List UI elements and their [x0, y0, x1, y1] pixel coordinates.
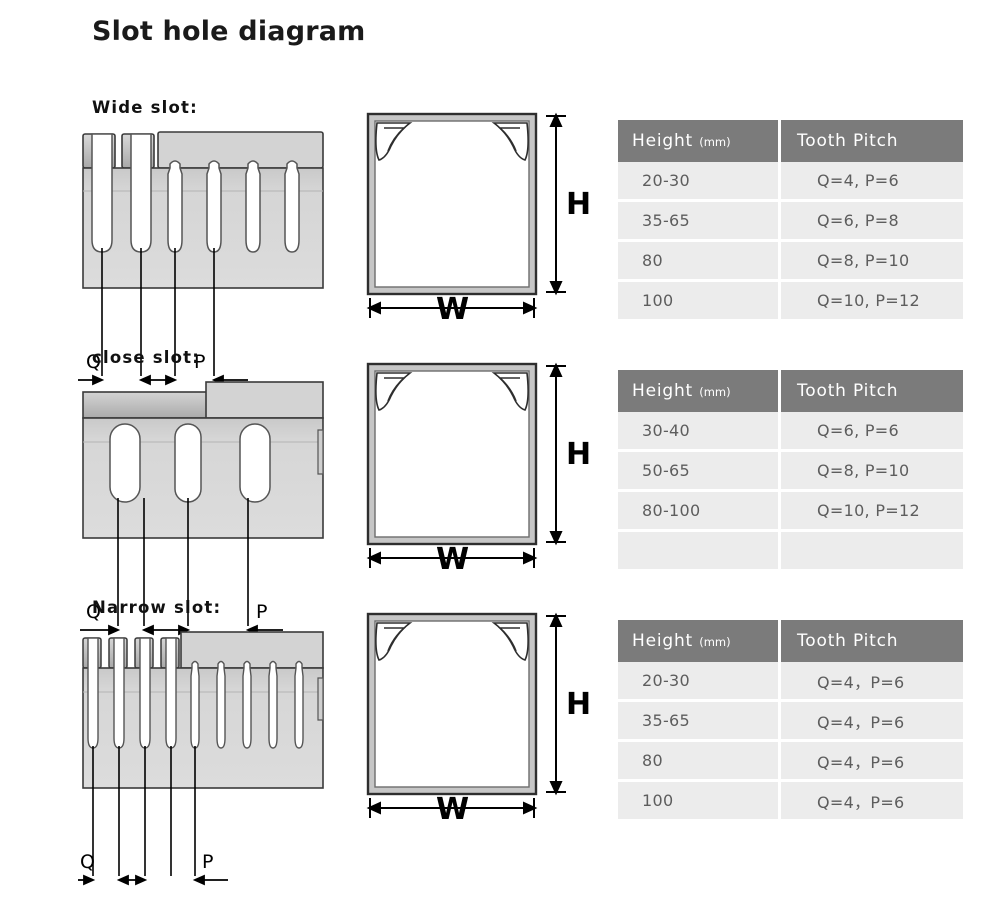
wide-slot-cross-section: H W [360, 106, 590, 331]
dimension-label-p: P [256, 601, 267, 623]
column-header-unit: (mm) [699, 135, 730, 149]
dimension-label-h: H [566, 437, 590, 472]
height-dimension [546, 615, 566, 793]
column-header-height: Height (mm) [618, 620, 780, 662]
height-dimension [546, 115, 566, 293]
column-header-pitch: Tooth Pitch [780, 120, 964, 162]
spec-table-close: Height (mm) Tooth Pitch 30-40 Q=6, P=6 5… [618, 370, 963, 569]
table-header-row: Height (mm) Tooth Pitch [618, 370, 963, 412]
narrow-slot-cross-section: H W [360, 606, 590, 831]
column-header-unit: (mm) [699, 385, 730, 399]
table-row: 35-65 Q=6, P=8 [618, 201, 963, 241]
duct-inner-wall [375, 621, 529, 787]
table-row: 20-30 Q=4，P=6 [618, 662, 963, 701]
table-row: 30-40 Q=6, P=6 [618, 412, 963, 451]
cell-height: 80-100 [618, 491, 780, 531]
cell-height: 100 [618, 281, 780, 320]
table-header-row: Height (mm) Tooth Pitch [618, 120, 963, 162]
close-slot-low-rail [83, 392, 208, 418]
narrow-slot-edge-notch [318, 678, 323, 720]
section-label-narrow: Narrow slot: [92, 598, 221, 617]
column-header-height-text: Height [632, 631, 693, 651]
cell-pitch: Q=8, P=10 [780, 451, 964, 491]
cell-height: 35-65 [618, 201, 780, 241]
table-row: 100 Q=10, P=12 [618, 281, 963, 320]
column-header-pitch: Tooth Pitch [780, 370, 964, 412]
close-slot-top-rail [206, 382, 323, 418]
table-row: 100 Q=4，P=6 [618, 781, 963, 820]
table-row: 35-65 Q=4，P=6 [618, 701, 963, 741]
table-header-row: Height (mm) Tooth Pitch [618, 620, 963, 662]
close-slot-edge-notch [318, 430, 323, 474]
table-row: 80 Q=4，P=6 [618, 741, 963, 781]
narrow-slot-panel-drawing: Q P [78, 628, 328, 903]
table-row: 80-100 Q=10, P=12 [618, 491, 963, 531]
cell-pitch: Q=6, P=6 [780, 412, 964, 451]
cell-height: 35-65 [618, 701, 780, 741]
spec-table-narrow: Height (mm) Tooth Pitch 20-30 Q=4，P=6 35… [618, 620, 963, 819]
cell-pitch: Q=4，P=6 [780, 781, 964, 820]
table-row: 50-65 Q=8, P=10 [618, 451, 963, 491]
duct-inner-wall [375, 371, 529, 537]
cell-pitch [780, 531, 964, 570]
cell-pitch: Q=6, P=8 [780, 201, 964, 241]
cell-pitch: Q=4, P=6 [780, 162, 964, 201]
page-title: Slot hole diagram [92, 16, 366, 47]
cell-height: 50-65 [618, 451, 780, 491]
duct-inner-wall [375, 121, 529, 287]
dimension-label-w: W [436, 542, 469, 577]
cell-height: 80 [618, 241, 780, 281]
dimension-label-h: H [566, 187, 590, 222]
cell-height: 20-30 [618, 162, 780, 201]
column-header-height: Height (mm) [618, 120, 780, 162]
section-label-close: close slot: [92, 348, 200, 367]
cell-pitch: Q=8, P=10 [780, 241, 964, 281]
table-row: 80 Q=8, P=10 [618, 241, 963, 281]
spec-table-wide: Height (mm) Tooth Pitch 20-30 Q=4, P=6 3… [618, 120, 963, 319]
cell-pitch: Q=4，P=6 [780, 701, 964, 741]
dimension-label-p: P [202, 851, 213, 873]
cell-height: 100 [618, 781, 780, 820]
cell-pitch: Q=4，P=6 [780, 662, 964, 701]
dimension-label-h: H [566, 687, 590, 722]
column-header-height-text: Height [632, 131, 693, 151]
cell-pitch: Q=4，P=6 [780, 741, 964, 781]
dimension-label-w: W [436, 292, 469, 327]
cell-height: 20-30 [618, 662, 780, 701]
column-header-pitch: Tooth Pitch [780, 620, 964, 662]
cell-height: 80 [618, 741, 780, 781]
column-header-height: Height (mm) [618, 370, 780, 412]
cell-height [618, 531, 780, 570]
cell-pitch: Q=10, P=12 [780, 281, 964, 320]
close-slot-openings [110, 424, 270, 502]
close-slot-cross-section: H W [360, 356, 590, 581]
cell-pitch: Q=10, P=12 [780, 491, 964, 531]
section-label-wide: Wide slot: [92, 98, 198, 117]
narrow-slot-dimension-arrows [78, 876, 228, 884]
column-header-height-text: Height [632, 381, 693, 401]
height-dimension [546, 365, 566, 543]
wide-slot-top-rail [158, 132, 323, 168]
cell-height: 30-40 [618, 412, 780, 451]
dimension-label-q: Q [80, 851, 95, 873]
table-row: 20-30 Q=4, P=6 [618, 162, 963, 201]
table-row [618, 531, 963, 570]
column-header-unit: (mm) [699, 635, 730, 649]
